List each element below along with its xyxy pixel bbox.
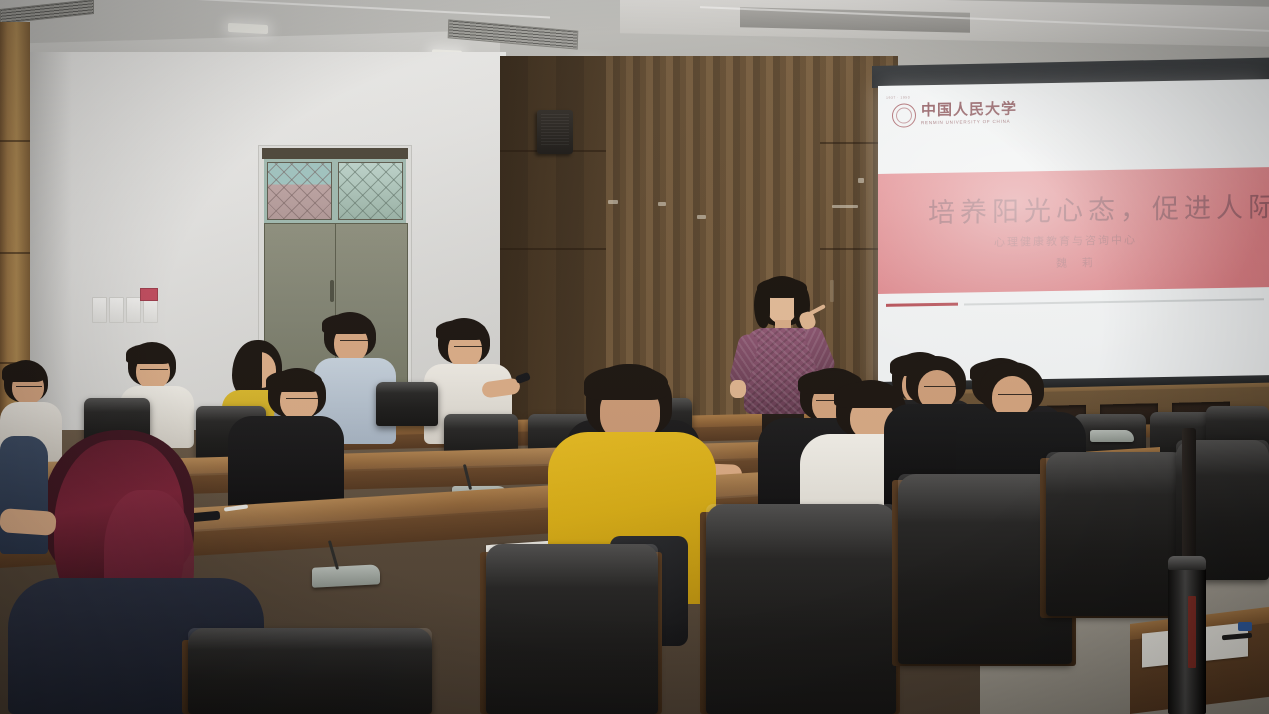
chair[interactable]	[188, 628, 432, 714]
logo-tiny-text: 1937 · 1950	[886, 96, 910, 100]
presenter-hair-left	[754, 286, 770, 328]
audience-member	[0, 414, 52, 554]
seal-icon	[892, 103, 916, 127]
slide-title: 培养阳光心态，促进人际关	[928, 184, 1269, 230]
chair[interactable]	[486, 544, 658, 714]
lecture-room-photo: 1937 · 1950 中国人民大学 RENMIN UNIVERSITY OF …	[0, 0, 1269, 714]
thermos-cap[interactable]	[1168, 556, 1206, 570]
wall-mark	[858, 178, 864, 183]
wall-speaker-icon	[537, 110, 573, 154]
wood-seam	[500, 248, 606, 250]
lattice-pane	[267, 162, 332, 220]
chair[interactable]	[1046, 452, 1186, 616]
light-switch[interactable]	[92, 297, 107, 323]
exit-sign	[140, 288, 158, 301]
slide-surface: 1937 · 1950 中国人民大学 RENMIN UNIVERSITY OF …	[878, 79, 1269, 386]
wall-mark	[832, 205, 858, 208]
wall-mark	[697, 215, 706, 219]
presenter-hand-left	[730, 380, 746, 398]
thermos-label	[1188, 596, 1196, 668]
thermos-bottle[interactable]	[1168, 560, 1206, 714]
eraser[interactable]	[1238, 622, 1252, 631]
door-handle-icon[interactable]	[330, 280, 334, 302]
conference-microphone[interactable]	[312, 564, 380, 588]
lattice-pane	[338, 162, 403, 220]
university-logo: 1937 · 1950 中国人民大学 RENMIN UNIVERSITY OF …	[892, 102, 1017, 128]
door-transom-window	[264, 159, 406, 223]
light-switch[interactable]	[109, 297, 124, 323]
conference-microphone[interactable]	[1090, 430, 1134, 442]
slide-rule-gray	[964, 298, 1264, 305]
slide-author: 魏 莉	[1056, 254, 1099, 271]
presenter-pointing-finger	[808, 304, 826, 316]
light-switch[interactable]	[126, 297, 141, 323]
logo-english-name: RENMIN UNIVERSITY OF CHINA	[921, 120, 1017, 126]
logo-chinese-name: 中国人民大学	[921, 103, 1017, 120]
chair[interactable]	[706, 504, 896, 714]
door-header	[262, 148, 408, 159]
wall-mark	[608, 200, 618, 204]
wall-mark	[658, 202, 666, 206]
projection-screen: 1937 · 1950 中国人民大学 RENMIN UNIVERSITY OF …	[872, 66, 1269, 393]
slide-rule-red	[886, 303, 958, 307]
chair[interactable]	[376, 382, 438, 426]
